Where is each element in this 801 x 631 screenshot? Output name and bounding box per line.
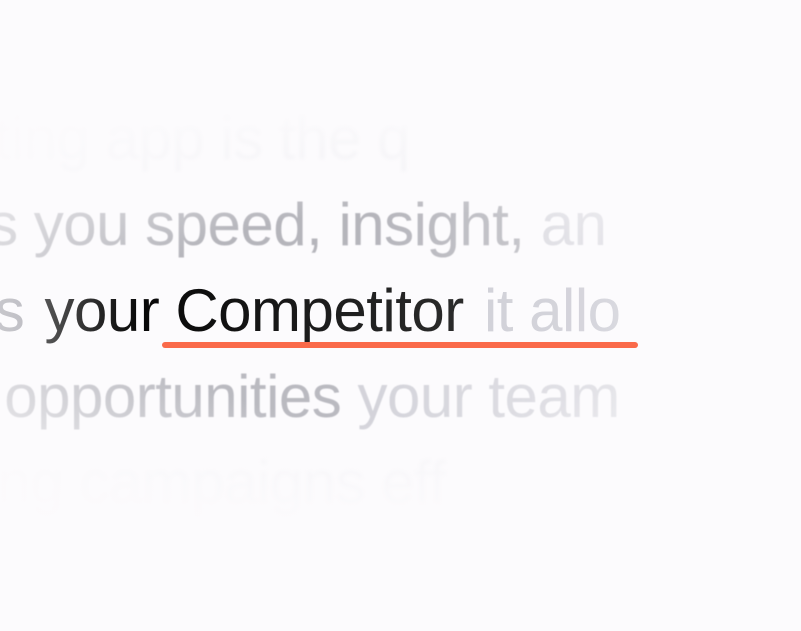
highlight-underline [162,342,638,348]
line-5-text: scaling campaigns eff [0,449,445,516]
text-line-2: gives you speed, insight, an [0,182,801,268]
text-line-4: eals opportunities your team [0,354,801,440]
line-4-text-faded: your team [357,363,619,430]
focus-text-canvas: arketing app is the q gives you speed, i… [0,0,801,631]
line-2-text-faded: an [541,191,607,258]
highlighted-phrase[interactable]: your Competitor [40,277,467,344]
line-3-text-suffix: it allo [468,277,621,344]
line-2-text-normal: gives you speed, insight, [0,191,541,258]
paragraph-block: arketing app is the q gives you speed, i… [0,96,801,526]
line-3-text-prefix: e has [0,277,40,344]
line-1-text: arketing app is the q [0,105,410,172]
text-line-1: arketing app is the q [0,96,801,182]
line-4-text-normal: eals opportunities [0,363,357,430]
text-line-5: scaling campaigns eff [0,440,801,526]
